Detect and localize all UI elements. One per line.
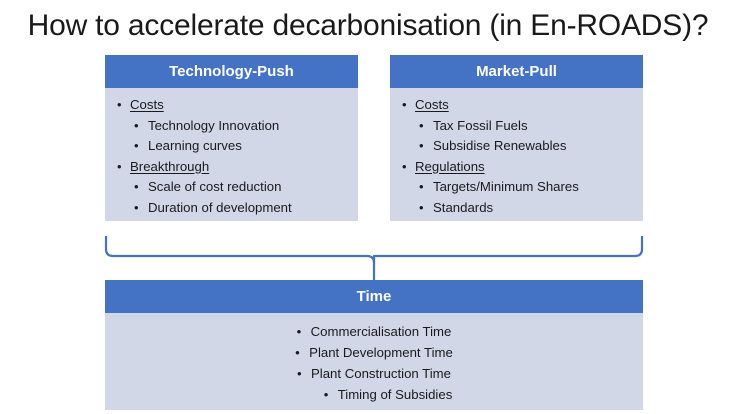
card-technology-push-header: Technology-Push xyxy=(105,55,358,88)
bullet-icon: • xyxy=(295,342,309,363)
list-item: Duration of development xyxy=(130,198,352,219)
bullet-icon: • xyxy=(324,384,338,405)
bullet-icon: • xyxy=(297,363,311,384)
list-item: •Plant Construction Time xyxy=(105,363,643,384)
item-label: Commercialisation Time xyxy=(311,324,452,339)
item-label: Timing of Subsidies xyxy=(338,387,453,402)
list-item: •Plant Development Time xyxy=(105,342,643,363)
group-label: Costs xyxy=(130,97,164,112)
bullet-list: Costs Technology Innovation Learning cur… xyxy=(113,95,352,218)
card-technology-push[interactable]: Technology-Push Costs Technology Innovat… xyxy=(105,55,358,221)
item-label: Plant Construction Time xyxy=(311,366,451,381)
list-item: Regulations Targets/Minimum Shares Stand… xyxy=(398,157,637,219)
sub-item-label: Subsidise Renewables xyxy=(433,138,566,153)
list-item: Technology Innovation xyxy=(130,116,352,137)
sub-item-label: Scale of cost reduction xyxy=(148,179,281,194)
bullet-icon: • xyxy=(297,321,311,342)
sub-bullet-list: Scale of cost reduction Duration of deve… xyxy=(130,177,352,218)
list-item: Standards xyxy=(415,198,637,219)
list-item: Subsidise Renewables xyxy=(415,136,637,157)
sub-bullet-list: Tax Fossil Fuels Subsidise Renewables xyxy=(415,116,637,157)
group-label: Regulations xyxy=(415,159,485,174)
list-item: Scale of cost reduction xyxy=(130,177,352,198)
item-label: Plant Development Time xyxy=(309,345,453,360)
sub-item-label: Learning curves xyxy=(148,138,242,153)
list-item: •Timing of Subsidies xyxy=(105,384,643,405)
curly-brace-connector-icon xyxy=(100,228,648,284)
sub-item-label: Targets/Minimum Shares xyxy=(433,179,579,194)
bullet-list: •Commercialisation Time •Plant Developme… xyxy=(105,321,643,405)
sub-bullet-list: Targets/Minimum Shares Standards xyxy=(415,177,637,218)
list-item: Breakthrough Scale of cost reduction Dur… xyxy=(113,157,352,219)
card-time[interactable]: Time •Commercialisation Time •Plant Deve… xyxy=(105,280,643,410)
card-technology-push-body: Costs Technology Innovation Learning cur… xyxy=(105,88,358,218)
sub-item-label: Standards xyxy=(433,200,493,215)
list-item: Costs Technology Innovation Learning cur… xyxy=(113,95,352,157)
slide-canvas: How to accelerate decarbonisation (in En… xyxy=(0,0,736,414)
group-label: Costs xyxy=(415,97,449,112)
sub-item-label: Tax Fossil Fuels xyxy=(433,118,528,133)
list-item: Targets/Minimum Shares xyxy=(415,177,637,198)
card-time-header: Time xyxy=(105,280,643,313)
sub-item-label: Duration of development xyxy=(148,200,292,215)
card-market-pull[interactable]: Market-Pull Costs Tax Fossil Fuels Subsi… xyxy=(390,55,643,221)
bullet-list: Costs Tax Fossil Fuels Subsidise Renewab… xyxy=(398,95,637,218)
list-item: •Commercialisation Time xyxy=(105,321,643,342)
sub-bullet-list: Technology Innovation Learning curves xyxy=(130,116,352,157)
list-item: Costs Tax Fossil Fuels Subsidise Renewab… xyxy=(398,95,637,157)
card-market-pull-header: Market-Pull xyxy=(390,55,643,88)
card-market-pull-body: Costs Tax Fossil Fuels Subsidise Renewab… xyxy=(390,88,643,218)
group-label: Breakthrough xyxy=(130,159,209,174)
list-item: Learning curves xyxy=(130,136,352,157)
list-item: Tax Fossil Fuels xyxy=(415,116,637,137)
card-time-body: •Commercialisation Time •Plant Developme… xyxy=(105,313,643,405)
page-title: How to accelerate decarbonisation (in En… xyxy=(0,6,736,46)
sub-item-label: Technology Innovation xyxy=(148,118,279,133)
